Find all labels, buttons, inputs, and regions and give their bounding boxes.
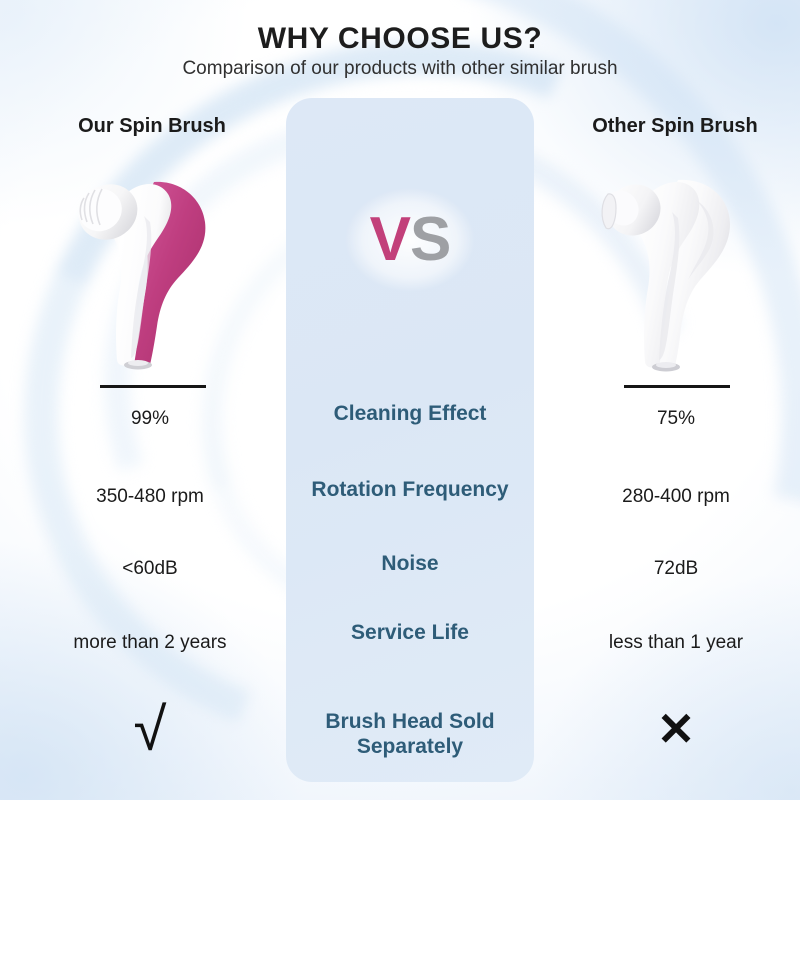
product-image-our-spin-brush xyxy=(62,160,242,375)
divider-line-ours xyxy=(100,385,206,388)
cross-icon: ✕ xyxy=(546,706,800,752)
value-others-rotation-frequency: 280-400 rpm xyxy=(546,486,800,509)
vs-badge: VS xyxy=(345,188,475,292)
vs-letter-v: V xyxy=(370,205,410,274)
checkmark-icon: √ xyxy=(20,700,280,760)
feature-label-cleaning-effect: Cleaning Effect xyxy=(286,402,534,427)
page-subtitle: Comparison of our products with other si… xyxy=(0,58,800,80)
value-ours-service-life: more than 2 years xyxy=(20,632,280,655)
product-image-other-spin-brush xyxy=(592,160,772,375)
feature-label-brush-head-sold-separately: Brush Head Sold Separately xyxy=(286,710,534,760)
value-ours-noise: <60dB xyxy=(20,558,280,581)
value-others-noise: 72dB xyxy=(546,558,800,581)
value-ours-cleaning-effect: 99% xyxy=(20,408,280,431)
feature-label-service-life: Service Life xyxy=(286,621,534,646)
value-others-service-life: less than 1 year xyxy=(546,632,800,655)
page-title: WHY CHOOSE US? xyxy=(0,22,800,56)
feature-label-noise: Noise xyxy=(286,552,534,577)
vs-letter-s: S xyxy=(410,205,450,274)
column-heading-others: Other Spin Brush xyxy=(545,115,800,138)
value-others-cleaning-effect: 75% xyxy=(546,408,800,431)
value-ours-rotation-frequency: 350-480 rpm xyxy=(20,486,280,509)
feature-label-rotation-frequency: Rotation Frequency xyxy=(286,478,534,503)
divider-line-others xyxy=(624,385,730,388)
column-heading-ours: Our Spin Brush xyxy=(22,115,282,138)
